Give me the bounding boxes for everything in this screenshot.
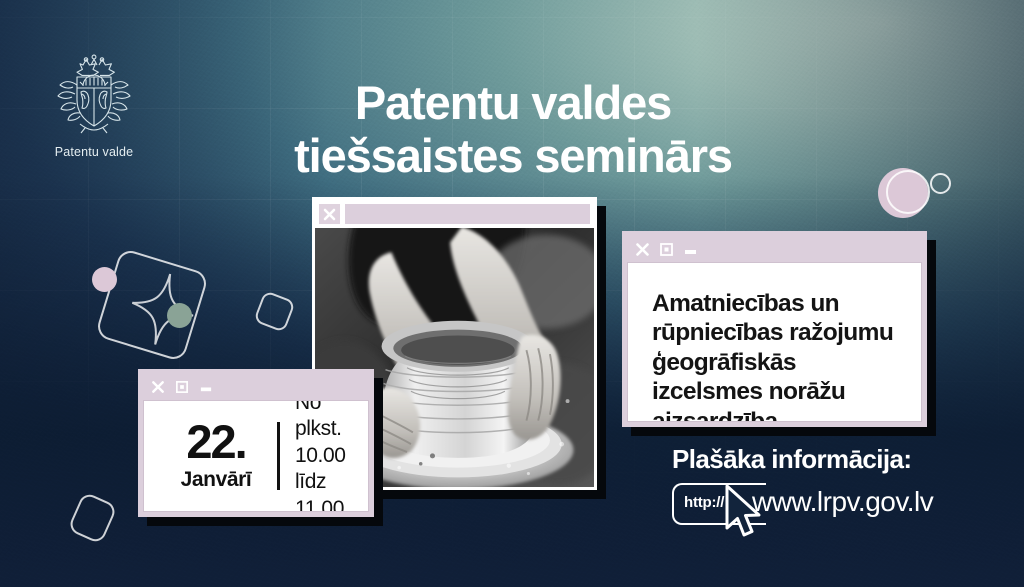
event-month: Janvārī: [164, 468, 268, 492]
close-icon[interactable]: [319, 204, 340, 224]
page-title: Patentu valdes tiešsaistes seminārs: [218, 76, 808, 182]
topic-line: rūpniecības ražojumu: [652, 318, 903, 347]
topic-window-body: Amatniecības un rūpniecības ražojumu ģeo…: [627, 262, 922, 422]
close-icon[interactable]: [633, 241, 651, 257]
maximize-icon[interactable]: [173, 379, 191, 395]
circle-outline-small-top-right: [930, 173, 951, 194]
circle-outline-large-top-right: [886, 170, 930, 214]
minimize-icon[interactable]: [197, 379, 215, 395]
topic-line: aizsardzība: [652, 407, 903, 422]
more-info-heading: Plašāka informācija:: [672, 446, 1012, 472]
topic-window-titlebar[interactable]: [627, 236, 922, 262]
website-url[interactable]: www.lrpv.gov.lv: [752, 486, 933, 518]
topic-window[interactable]: Amatniecības un rūpniecības ražojumu ģeo…: [622, 231, 927, 427]
date-window[interactable]: 22. Janvārī No plkst. 10.00 līdz 11.00: [138, 369, 374, 517]
topic-line: ģeogrāfiskās: [652, 348, 903, 377]
event-time-line: 11.00: [295, 496, 354, 512]
brand-name: Patentu valde: [46, 145, 142, 159]
event-time: No plkst. 10.00 līdz 11.00: [295, 400, 354, 512]
close-glyph: [323, 208, 336, 221]
page-title-line-2: tiešsaistes seminārs: [218, 129, 808, 182]
event-day: 22.: [164, 420, 268, 463]
maximize-icon[interactable]: [657, 241, 675, 257]
event-date: 22. Janvārī: [164, 420, 268, 492]
date-divider: [277, 422, 280, 490]
brand-logo: Patentu valde: [46, 52, 142, 159]
date-window-body: 22. Janvārī No plkst. 10.00 līdz 11.00: [143, 400, 369, 512]
event-time-line: 10.00 līdz: [295, 443, 354, 496]
close-glyph: [151, 380, 165, 394]
minimize-icon[interactable]: [681, 241, 699, 257]
minimize-glyph: [199, 380, 213, 394]
topic-heading: Amatniecības un rūpniecības ražojumu ģeo…: [652, 289, 903, 422]
protocol-badge: http://: [684, 494, 724, 511]
poster-canvas: Patentu valde Patentu valdes tiešsaistes…: [0, 0, 1024, 587]
topic-line: Amatniecības un: [652, 289, 903, 318]
close-glyph: [635, 242, 650, 257]
mouse-pointer-icon: [722, 483, 766, 541]
minimize-glyph: [683, 242, 698, 257]
close-icon[interactable]: [149, 379, 167, 395]
circle-filled-sage-left: [167, 303, 192, 328]
topic-line: izcelsmes norāžu: [652, 377, 903, 406]
maximize-glyph: [659, 242, 674, 257]
date-window-titlebar[interactable]: [143, 374, 369, 400]
event-time-line: No plkst.: [295, 400, 354, 443]
maximize-glyph: [175, 380, 189, 394]
circle-filled-pink-left: [92, 267, 117, 292]
page-title-line-1: Patentu valdes: [218, 76, 808, 129]
photo-window-titlebar[interactable]: [315, 200, 594, 228]
photo-window-title-field[interactable]: [345, 204, 590, 224]
latvia-coat-of-arms-icon: [55, 52, 133, 138]
